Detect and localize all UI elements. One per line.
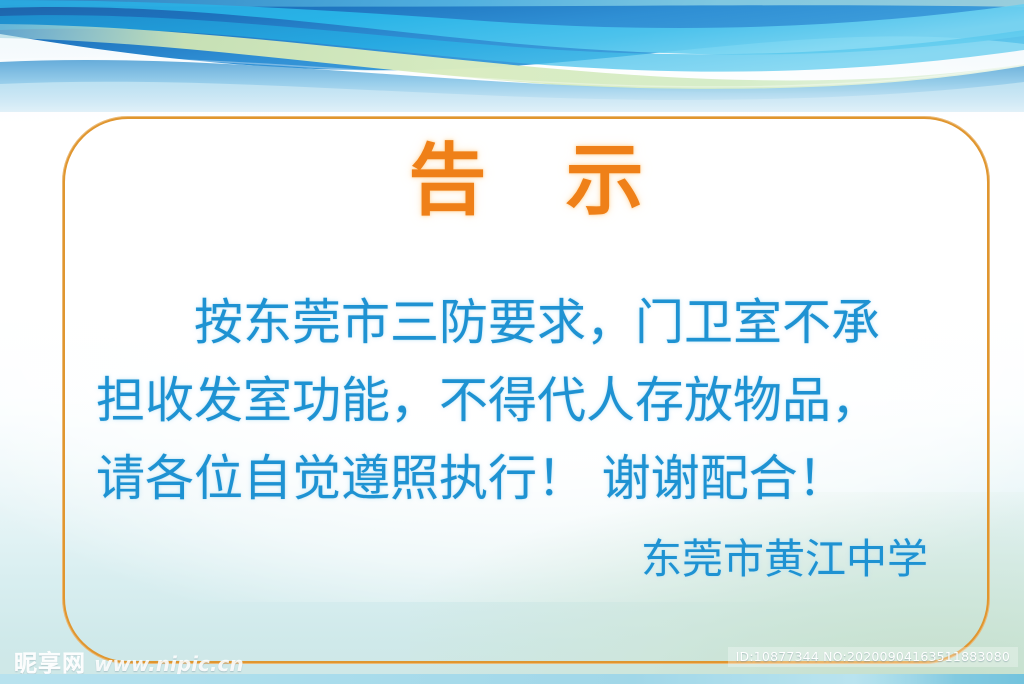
notice-body-line-1: 按东莞市三防要求，门卫室不承 [96, 284, 968, 362]
notice-body-line-3: 请各位自觉遵照执行！ 谢谢配合！ [96, 440, 968, 518]
notice-body: 按东莞市三防要求，门卫室不承 担收发室功能，不得代人存放物品， 请各位自觉遵照执… [96, 284, 968, 518]
notice-title: 告 示 [62, 142, 990, 220]
notice-body-line-2: 担收发室功能，不得代人存放物品， [96, 362, 968, 440]
poster-canvas: 告 示 按东莞市三防要求，门卫室不承 担收发室功能，不得代人存放物品， 请各位自… [0, 0, 1024, 684]
bottom-edge-strip [0, 674, 1024, 684]
top-wave-banner [0, 0, 1024, 112]
wave-graphic [0, 0, 1024, 112]
notice-content: 告 示 按东莞市三防要求，门卫室不承 担收发室功能，不得代人存放物品， 请各位自… [62, 116, 990, 664]
notice-signature: 东莞市黄江中学 [641, 539, 928, 580]
